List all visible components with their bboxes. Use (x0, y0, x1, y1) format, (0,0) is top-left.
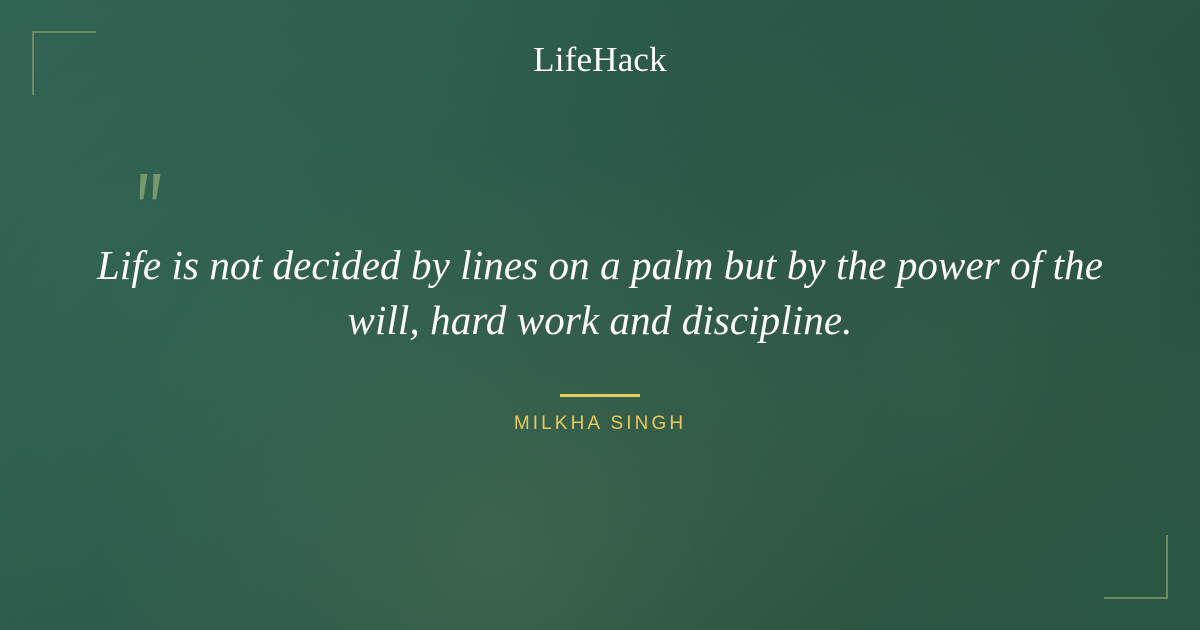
gold-divider (560, 394, 640, 397)
quote-author: MILKHA SINGH (514, 413, 686, 434)
quotation-mark-icon (130, 168, 176, 214)
lifehack-logo: LifeHack (0, 42, 1200, 77)
author-container: MILKHA SINGH (0, 413, 1200, 435)
quote-line-1: Life is not decided by lines on a palm b… (85, 238, 1115, 293)
corner-bracket-bottom-right-icon (1104, 535, 1168, 599)
quote-card: LifeHack Life is not decided by lines on… (0, 0, 1200, 630)
quote-block: Life is not decided by lines on a palm b… (85, 238, 1115, 347)
divider-container (0, 384, 1200, 402)
quote-line-2: will, hard work and discipline. (85, 293, 1115, 348)
